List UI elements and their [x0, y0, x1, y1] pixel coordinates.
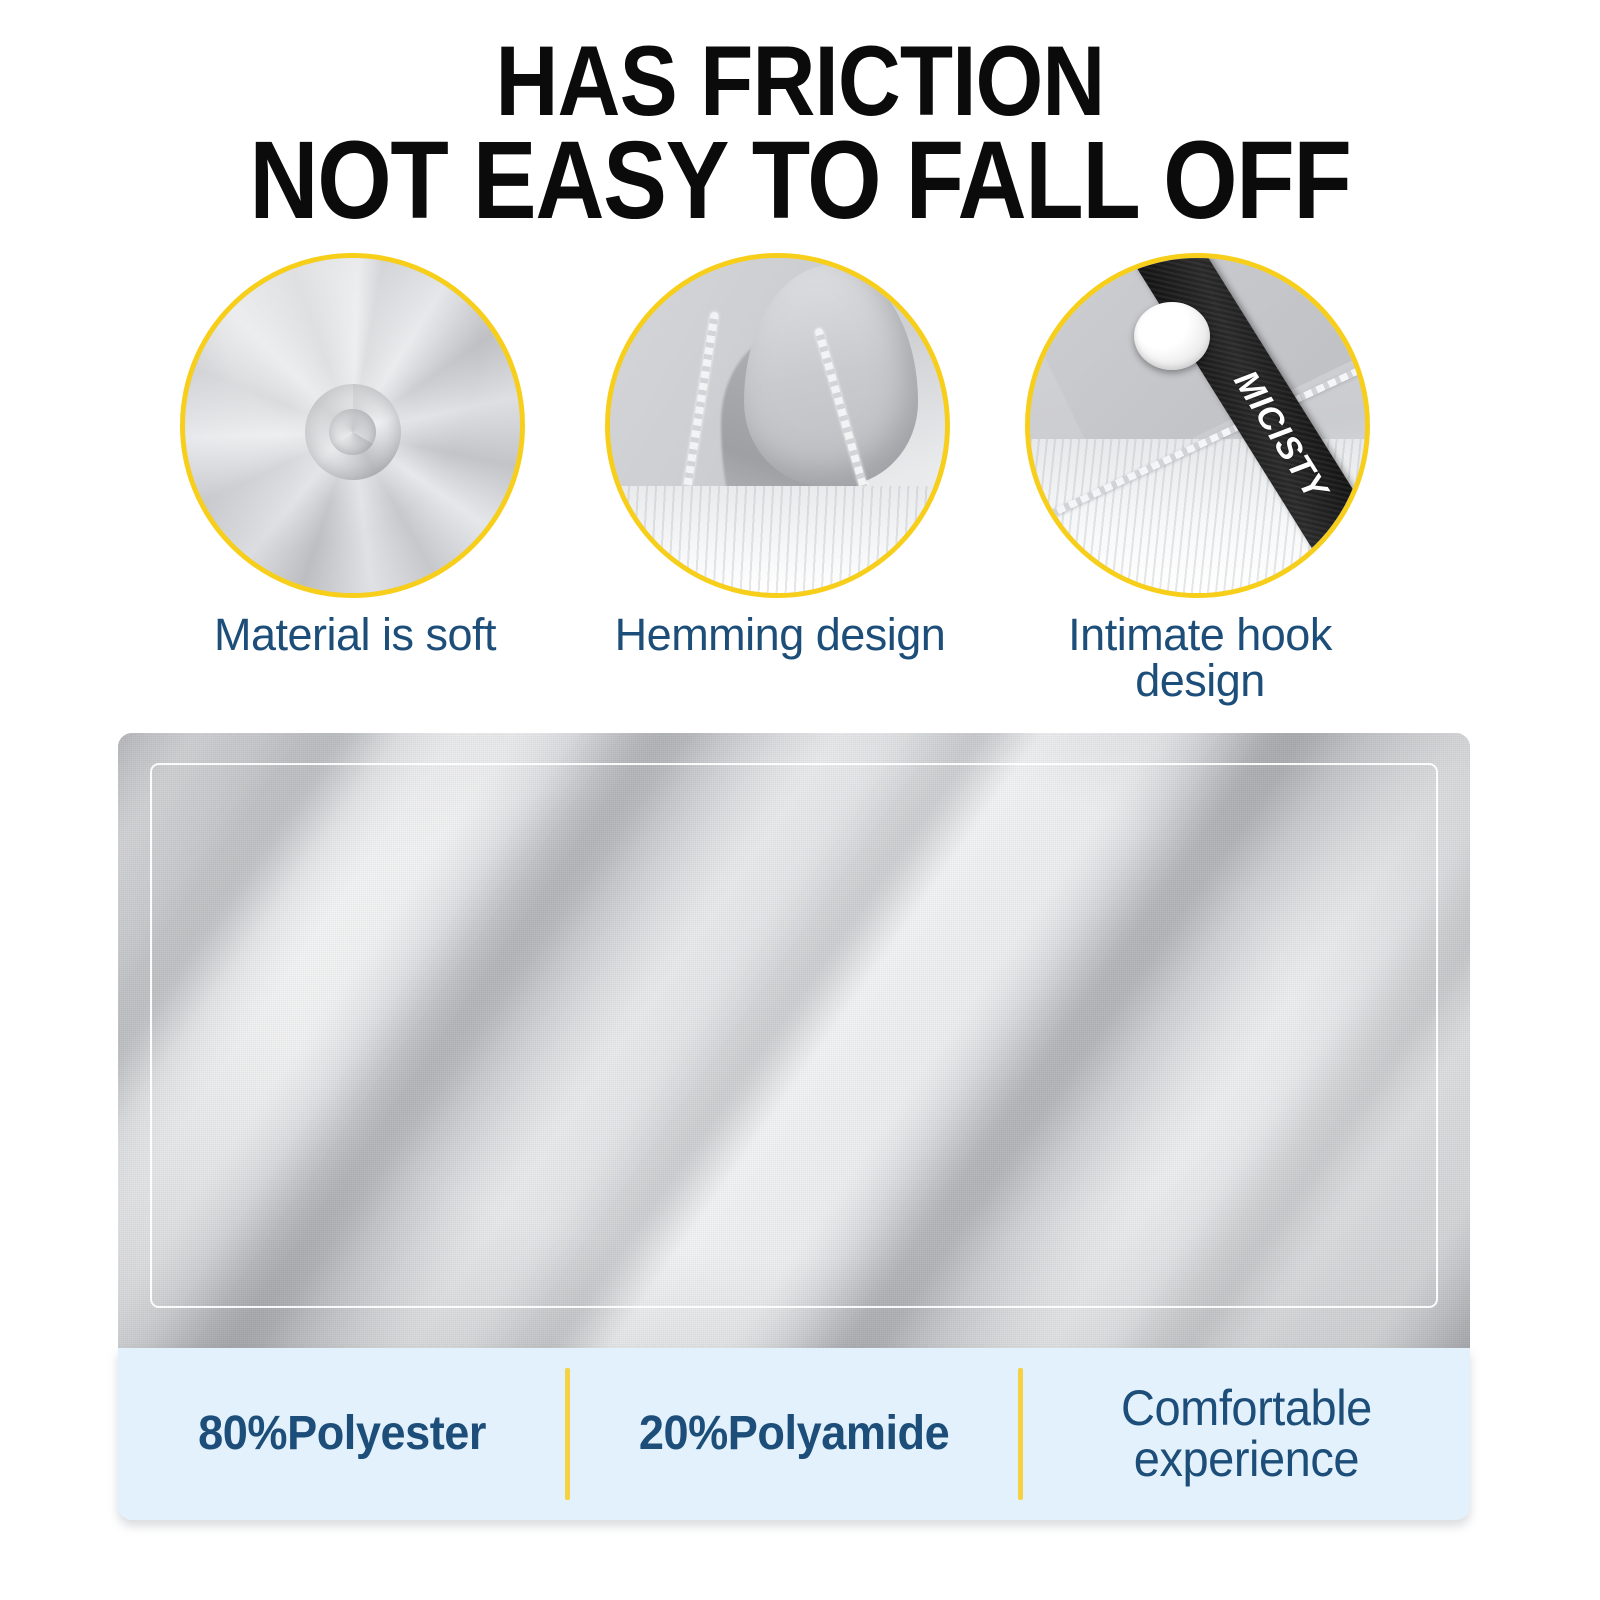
twisted-fabric-image: [185, 258, 520, 593]
hemmed-edge-image: [610, 258, 945, 593]
feature-caption-2: Hemming design: [605, 612, 955, 658]
hook-loop-photo: MICISTY: [1025, 253, 1370, 598]
spec-label-1: 80%Polyester: [198, 1410, 486, 1459]
spec-label-3-line-1: Comfortable: [1121, 1380, 1372, 1436]
feature-material-is-soft: Material is soft: [180, 253, 530, 658]
twisted-fabric-photo: [180, 253, 525, 598]
spec-label-2: 20%Polyamide: [639, 1410, 949, 1459]
fabric-highlight: [185, 258, 520, 593]
hero-inset-frame: [150, 763, 1438, 1308]
spec-label-3: Comfortable experience: [1121, 1383, 1372, 1485]
feature-intimate-hook-design: MICISTY Intimate hook design: [1025, 253, 1375, 704]
headline-line-2: NOT EASY TO FALL OFF: [104, 129, 1496, 232]
spec-item-polyester: 80%Polyester: [118, 1410, 565, 1459]
page-title: HAS FRICTION NOT EASY TO FALL OFF: [0, 34, 1600, 232]
spec-item-comfort: Comfortable experience: [1023, 1383, 1470, 1485]
spec-bar: 80%Polyester 20%Polyamide Comfortable ex…: [118, 1348, 1470, 1520]
spec-item-polyamide: 20%Polyamide: [570, 1410, 1017, 1459]
hemmed-edge-photo: [605, 253, 950, 598]
feature-caption-1: Material is soft: [180, 612, 530, 658]
hem-surface-below: [610, 486, 945, 593]
hero-product-photo: [118, 733, 1470, 1348]
hook-loop-image: MICISTY: [1030, 258, 1365, 593]
feature-caption-3-line-2: design: [1135, 655, 1265, 706]
feature-circle-row: Material is soft Hemming design: [0, 253, 1600, 723]
feature-caption-3-line-1: Intimate hook: [1068, 609, 1332, 660]
headline-line-1: HAS FRICTION: [96, 34, 1504, 127]
snap-button-icon: [1134, 302, 1210, 370]
feature-caption-3: Intimate hook design: [1025, 612, 1375, 704]
spec-label-3-line-2: experience: [1134, 1431, 1359, 1487]
feature-hemming-design: Hemming design: [605, 253, 955, 658]
